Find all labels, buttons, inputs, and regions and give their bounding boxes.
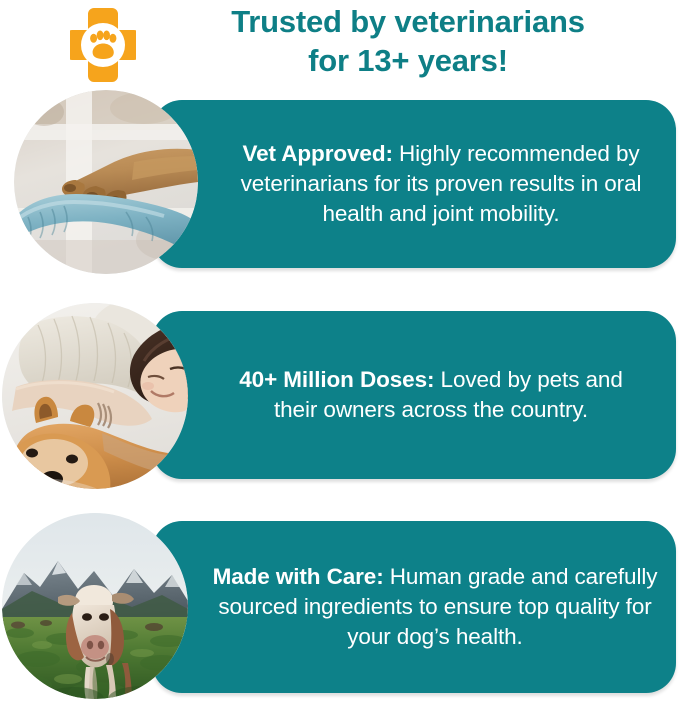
card-heading: Vet Approved: (242, 141, 392, 166)
photo-woman-hugging-dog (2, 303, 188, 489)
card-text: 40+ Million Doses: Loved by pets and the… (232, 365, 630, 425)
trust-badges-infographic: Trusted by veterinarians for 13+ years! … (0, 0, 679, 708)
card-panel: Made with Care: Human grade and carefull… (152, 521, 676, 693)
card-text: Vet Approved: Highly recommended by vete… (224, 139, 658, 229)
benefit-card-million-doses: 40+ Million Doses: Loved by pets and the… (0, 301, 679, 491)
card-heading: Made with Care: (213, 564, 384, 589)
benefit-card-vet-approved: Vet Approved: Highly recommended by vete… (0, 90, 679, 280)
photo-cow-in-pasture (2, 513, 188, 699)
veterinary-cross-paw-icon (70, 6, 136, 84)
photo-dog-paw-vet-hand (14, 90, 198, 274)
card-heading: 40+ Million Doses: (239, 367, 434, 392)
header-banner: Trusted by veterinarians for 13+ years! (0, 0, 679, 92)
page-headline: Trusted by veterinarians for 13+ years! (148, 2, 668, 80)
card-panel: 40+ Million Doses: Loved by pets and the… (152, 311, 676, 479)
headline-line-1: Trusted by veterinarians (148, 2, 668, 41)
benefit-card-made-with-care: Made with Care: Human grade and carefull… (0, 511, 679, 707)
card-panel: Vet Approved: Highly recommended by vete… (152, 100, 676, 268)
headline-line-2: for 13+ years! (148, 41, 668, 80)
card-text: Made with Care: Human grade and carefull… (212, 562, 658, 652)
